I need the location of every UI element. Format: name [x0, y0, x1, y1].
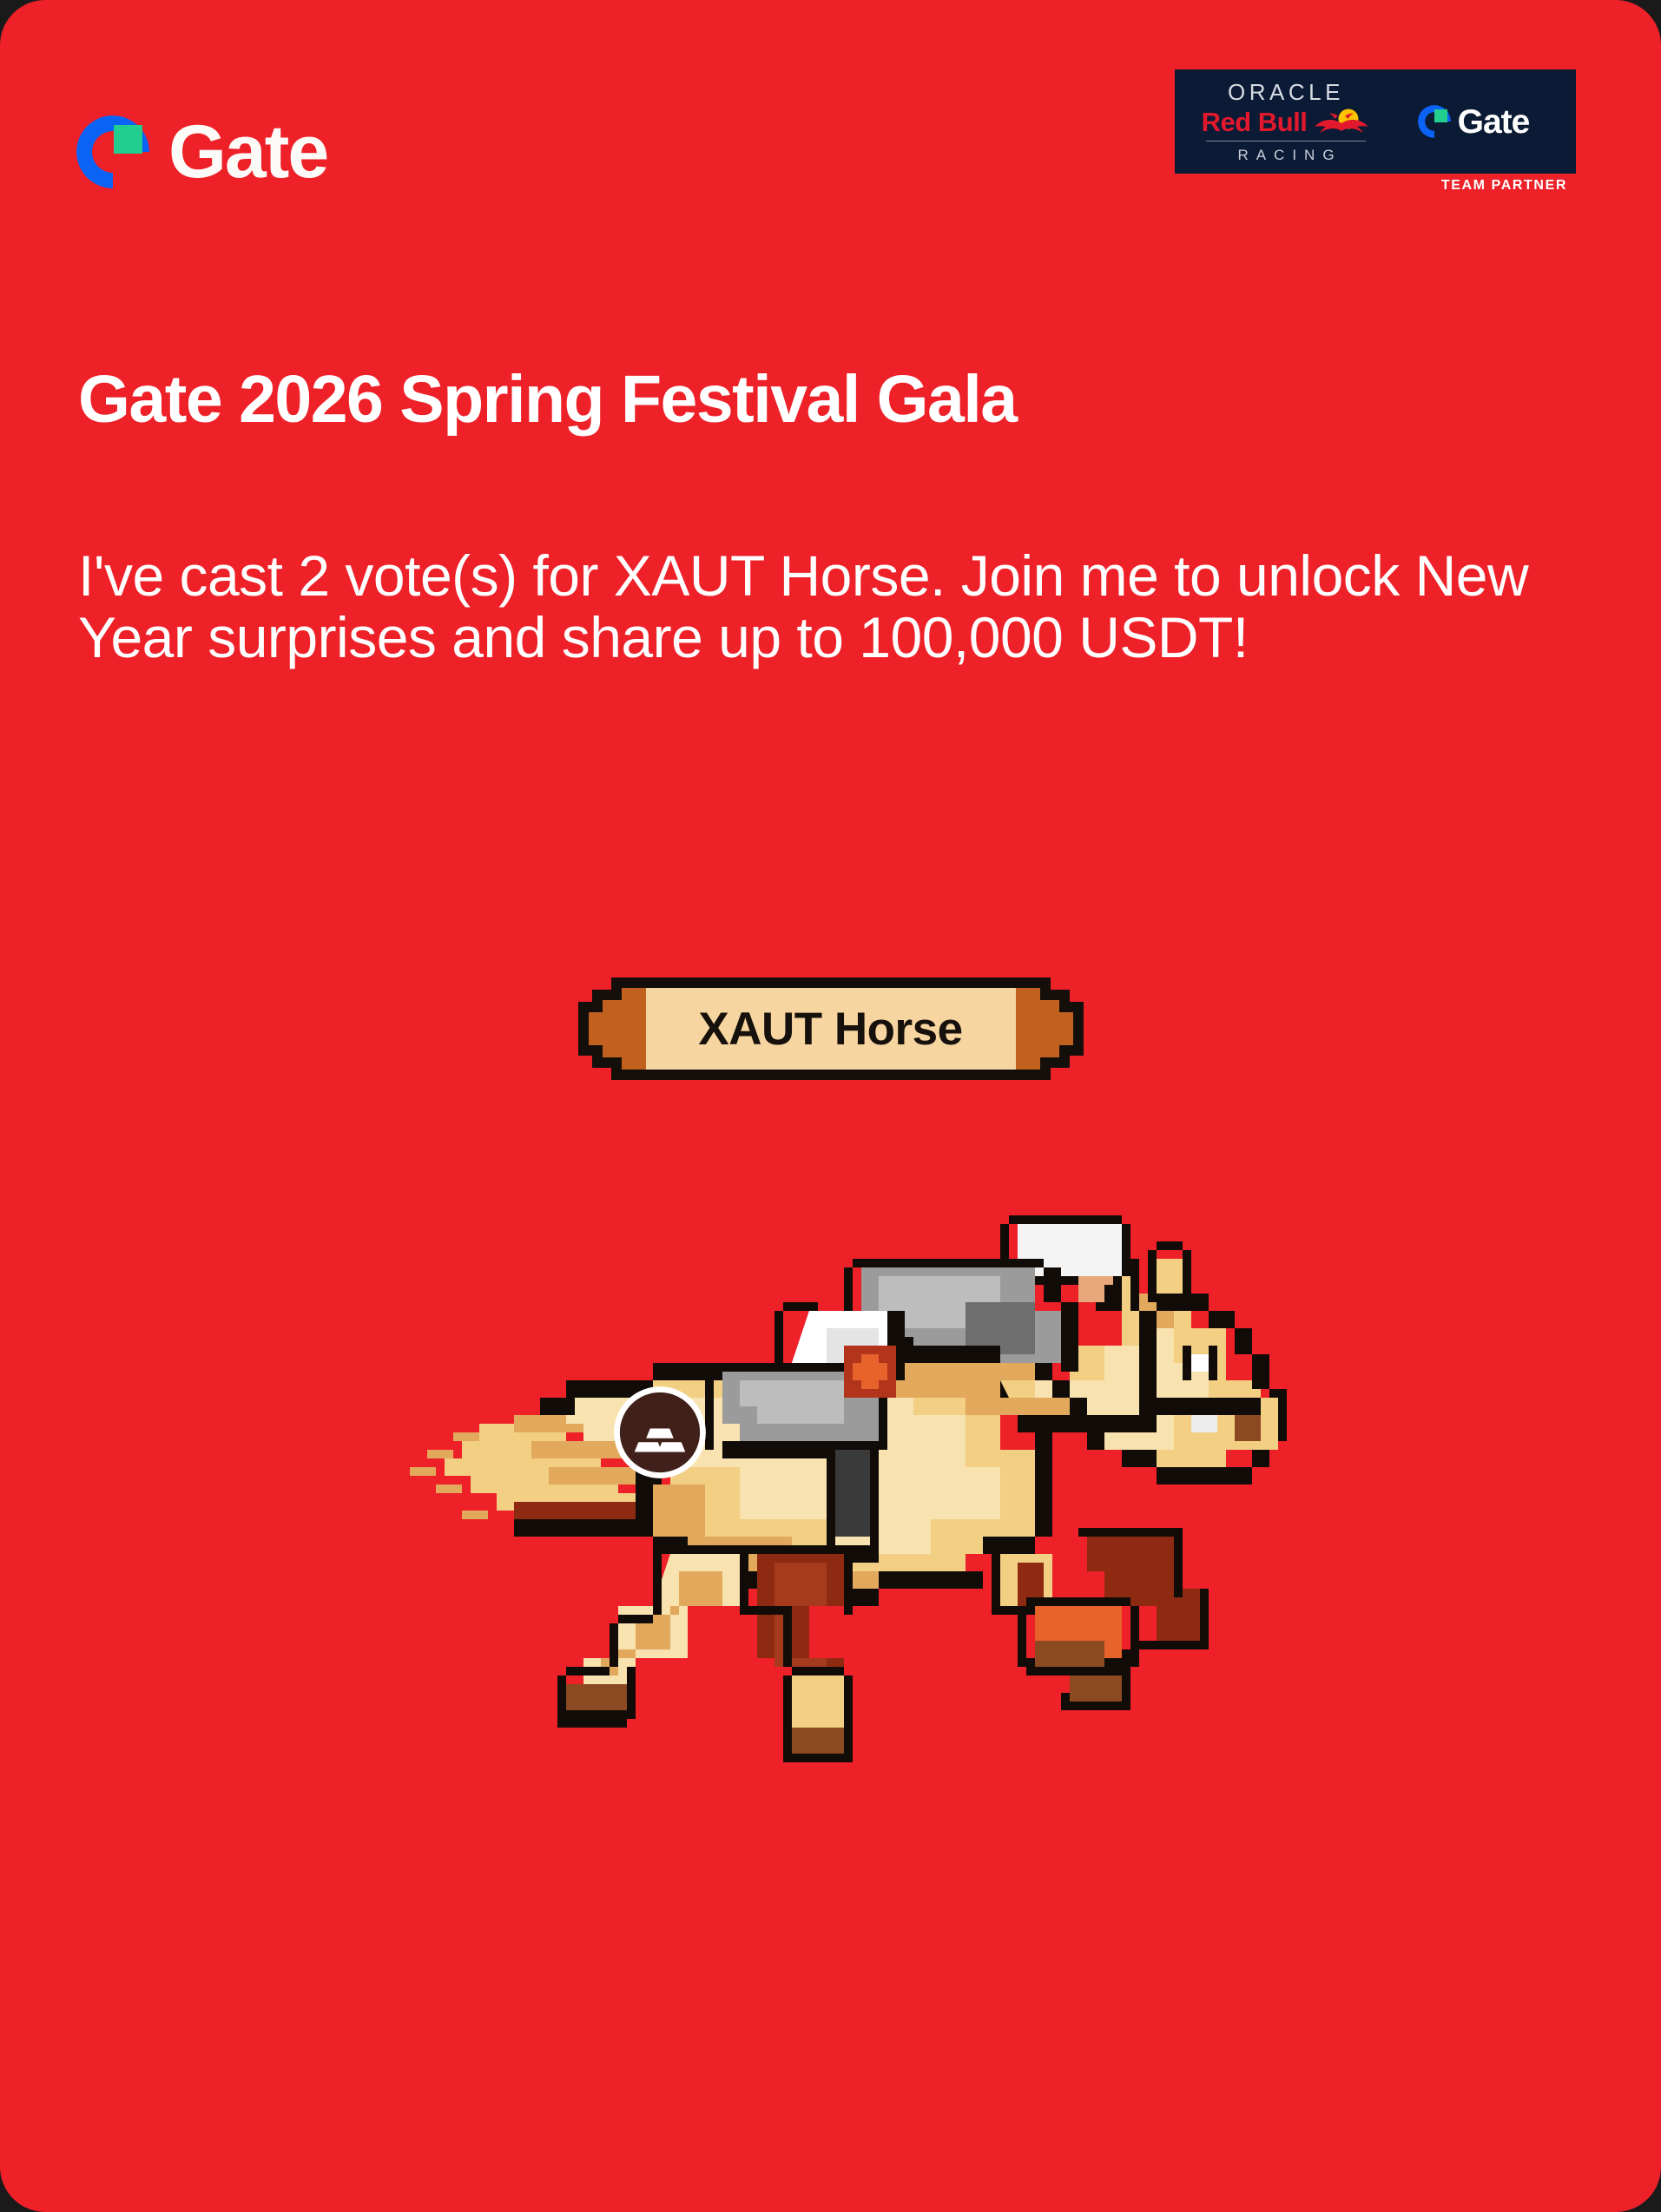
share-card: Gate ORACLE Red Bull: [0, 0, 1661, 2212]
horse-name-plaque-container: XAUT Horse: [0, 971, 1661, 1087]
card-header: Gate ORACLE Red Bull: [0, 0, 1661, 234]
partner-badge-divider: [1206, 141, 1366, 142]
partner-gate-wordmark: Gate: [1458, 105, 1530, 139]
racing-label: RACING: [1229, 148, 1341, 162]
horse-name-label: XAUT Horse: [570, 971, 1092, 1087]
red-bull-label: Red Bull: [1202, 109, 1308, 135]
team-partner-ribbon: TEAM PARTNER: [1315, 174, 1576, 198]
partner-badge-gate-lockup: Gate: [1376, 105, 1576, 139]
page-title: Gate 2026 Spring Festival Gala: [78, 365, 1485, 436]
red-bull-icon: [1313, 108, 1370, 135]
gate-logo-icon: [76, 115, 149, 188]
pixel-racehorse-icon: [358, 1189, 1304, 1762]
gate-logo: Gate: [76, 115, 327, 189]
xaut-token-badge: [613, 1386, 707, 1479]
team-partner-label: TEAM PARTNER: [1441, 178, 1567, 194]
oracle-red-bull-racing-partner-badge: ORACLE Red Bull: [1175, 69, 1576, 198]
xaut-gold-bars-icon: [613, 1386, 707, 1479]
red-bull-racing-lockup: ORACLE Red Bull: [1175, 81, 1376, 162]
horse-illustration-container: [0, 1189, 1661, 1762]
partner-gate-logo-icon: [1418, 105, 1451, 138]
partner-badge-panel: ORACLE Red Bull: [1175, 69, 1576, 174]
oracle-label: ORACLE: [1228, 81, 1344, 103]
share-message-body: I've cast 2 vote(s) for XAUT Horse. Join…: [78, 545, 1567, 669]
gate-wordmark: Gate: [168, 115, 327, 189]
horse-name-plaque: XAUT Horse: [570, 971, 1092, 1087]
